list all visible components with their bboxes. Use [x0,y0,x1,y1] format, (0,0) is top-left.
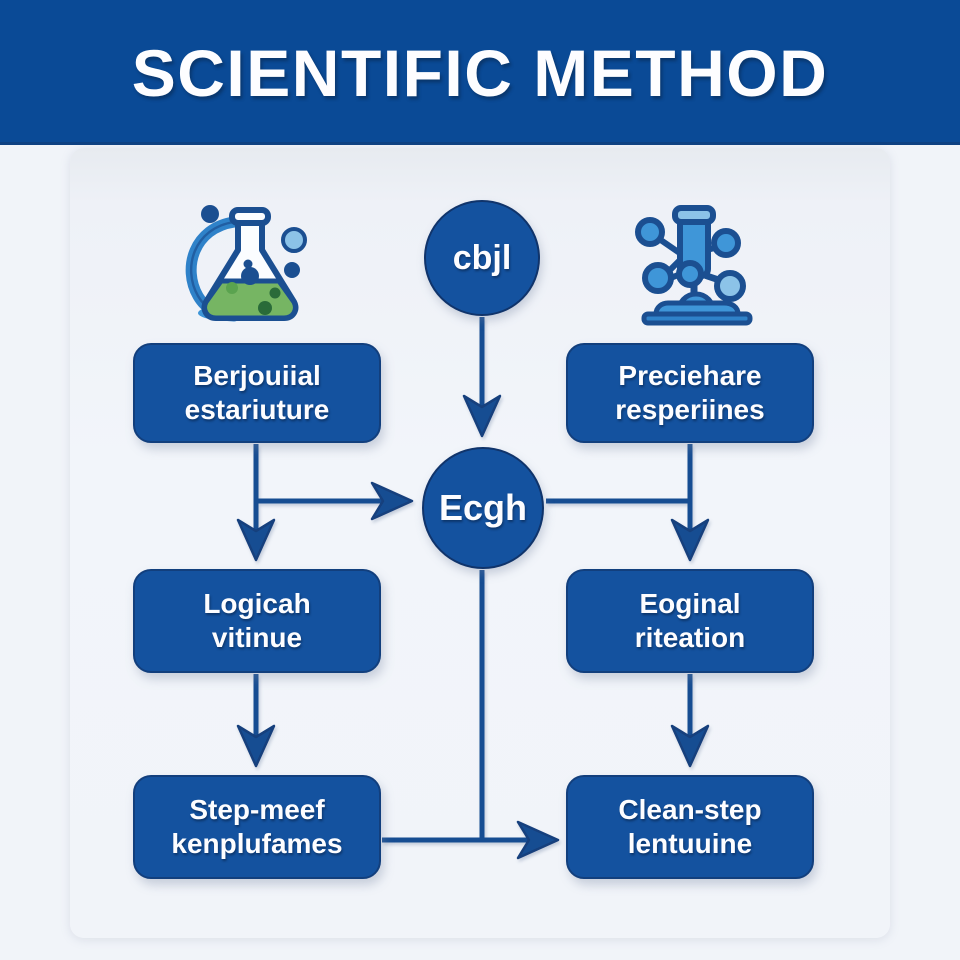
center-circle-node[interactable]: Ecgh [422,447,544,569]
process-box-mid-left[interactable]: Logicah vitinue [133,569,381,673]
box-top-right-line1: Preciehare [618,360,761,392]
flask-icon [176,198,324,330]
box-mid-left-line1: Logicah [203,588,310,620]
box-mid-right-line2: riteation [635,622,745,654]
top-circle-node[interactable]: cbjl [424,200,540,316]
box-top-right-line2: resperiines [615,394,764,426]
box-bottom-left-line1: Step-meef [189,794,324,826]
box-mid-left-line2: vitinue [212,622,302,654]
box-mid-right-line1: Eoginal [639,588,740,620]
box-top-left-line1: Berjouiial [193,360,321,392]
process-box-mid-right[interactable]: Eoginal riteation [566,569,814,673]
box-bottom-right-line1: Clean-step [618,794,761,826]
process-box-bottom-left[interactable]: Step-meef kenplufames [133,775,381,879]
process-box-bottom-right[interactable]: Clean-step lentuuine [566,775,814,879]
box-bottom-left-line2: kenplufames [171,828,342,860]
process-box-top-left[interactable]: Berjouiial estariuture [133,343,381,443]
process-box-top-right[interactable]: Preciehare resperiines [566,343,814,443]
center-circle-label: Ecgh [439,487,527,529]
microscope-icon [622,198,770,330]
box-bottom-right-line2: lentuuine [628,828,752,860]
flowchart-stage: cbjl Ecgh Berjouiial estariuture Precieh… [0,0,960,960]
box-top-left-line2: estariuture [185,394,330,426]
top-circle-label: cbjl [453,239,512,278]
